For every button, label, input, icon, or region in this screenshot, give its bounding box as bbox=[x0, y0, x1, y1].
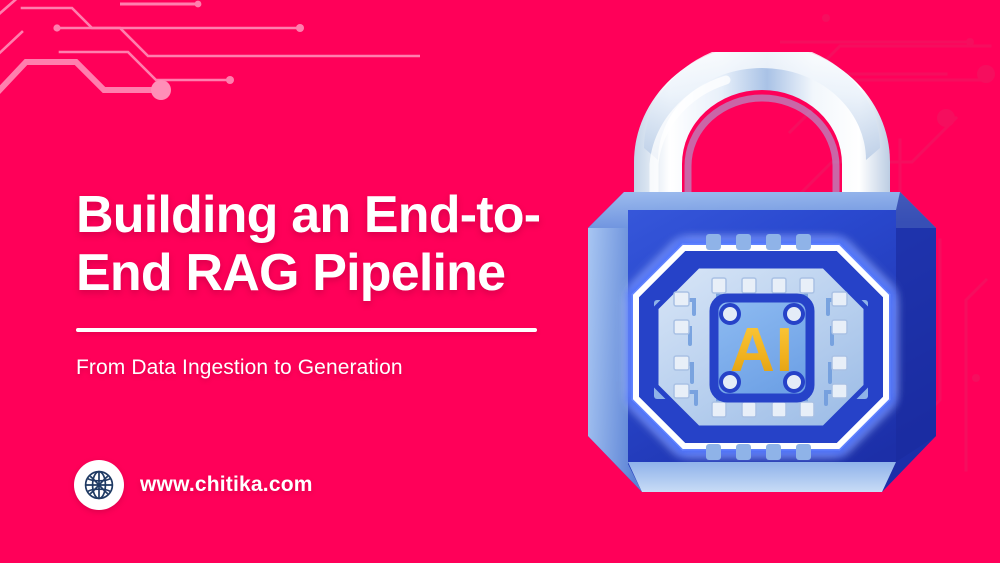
ai-padlock-illustration: AI bbox=[566, 52, 958, 532]
brand-row[interactable]: www.chitika.com bbox=[74, 460, 313, 510]
page-title: Building an End-to-End RAG Pipeline bbox=[76, 186, 556, 302]
brand-logo-badge bbox=[74, 460, 124, 510]
ai-chip-label: AI bbox=[730, 316, 794, 385]
page-subtitle: From Data Ingestion to Generation bbox=[76, 356, 556, 380]
circuit-decoration-left bbox=[0, 0, 420, 120]
brand-url[interactable]: www.chitika.com bbox=[140, 473, 313, 497]
globe-icon bbox=[82, 468, 116, 502]
hero-banner: AI Building an End-to-End RAG Pipeline F… bbox=[0, 0, 1000, 563]
title-divider bbox=[76, 328, 537, 332]
text-block: Building an End-to-End RAG Pipeline From… bbox=[76, 186, 556, 380]
